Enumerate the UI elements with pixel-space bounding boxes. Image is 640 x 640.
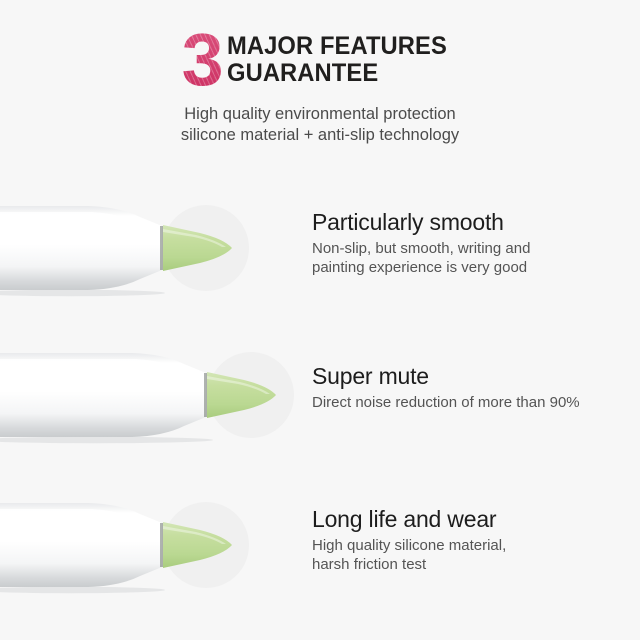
headline-line-1: MAJOR FEATURES bbox=[227, 33, 447, 60]
feature-title-3: Long life and wear bbox=[312, 506, 634, 533]
feature-desc-1-line-1: Non-slip, but smooth, writing and bbox=[312, 240, 634, 259]
subheading-line-2: silicone material + anti-slip technology bbox=[0, 125, 640, 146]
feature-desc-3: High quality silicone material, harsh fr… bbox=[312, 537, 634, 574]
subheading-line-1: High quality environmental protection bbox=[0, 104, 640, 125]
stylus-pen-graphic-2 bbox=[0, 320, 300, 470]
headline-text-group: MAJOR FEATURES GUARANTEE bbox=[227, 27, 459, 87]
feature-row-particularly-smooth: Particularly smooth Non-slip, but smooth… bbox=[0, 173, 640, 323]
headline-line-2: GUARANTEE bbox=[227, 60, 447, 87]
stylus-pen-graphic-1 bbox=[0, 173, 300, 323]
feature-title-1: Particularly smooth bbox=[312, 209, 634, 236]
feature-desc-2-line-1: Direct noise reduction of more than 90% bbox=[312, 394, 634, 413]
header-banner: 3 MAJOR FEATURES GUARANTEE High quality … bbox=[0, 0, 640, 160]
subheading-group: High quality environmental protection si… bbox=[0, 104, 640, 146]
feature-desc-3-line-2: harsh friction test bbox=[312, 556, 634, 575]
feature-row-long-life-and-wear: Long life and wear High quality silicone… bbox=[0, 470, 640, 620]
feature-text-1: Particularly smooth Non-slip, but smooth… bbox=[312, 209, 634, 277]
stylus-pen-graphic-3 bbox=[0, 470, 300, 620]
feature-desc-3-line-1: High quality silicone material, bbox=[312, 537, 634, 556]
feature-row-super-mute: Super mute Direct noise reduction of mor… bbox=[0, 320, 640, 470]
pen-illustration-3 bbox=[0, 470, 300, 620]
feature-desc-1: Non-slip, but smooth, writing and painti… bbox=[312, 240, 634, 277]
feature-title-2: Super mute bbox=[312, 363, 634, 390]
feature-text-3: Long life and wear High quality silicone… bbox=[312, 506, 634, 574]
feature-desc-2: Direct noise reduction of more than 90% bbox=[312, 394, 634, 413]
pen-illustration-1 bbox=[0, 173, 300, 323]
feature-desc-1-line-2: painting experience is very good bbox=[312, 259, 634, 278]
feature-text-2: Super mute Direct noise reduction of mor… bbox=[312, 363, 634, 413]
pen-illustration-2 bbox=[0, 320, 300, 470]
headline-row: 3 MAJOR FEATURES GUARANTEE bbox=[0, 27, 640, 93]
feature-count-numeral: 3 bbox=[181, 27, 221, 93]
